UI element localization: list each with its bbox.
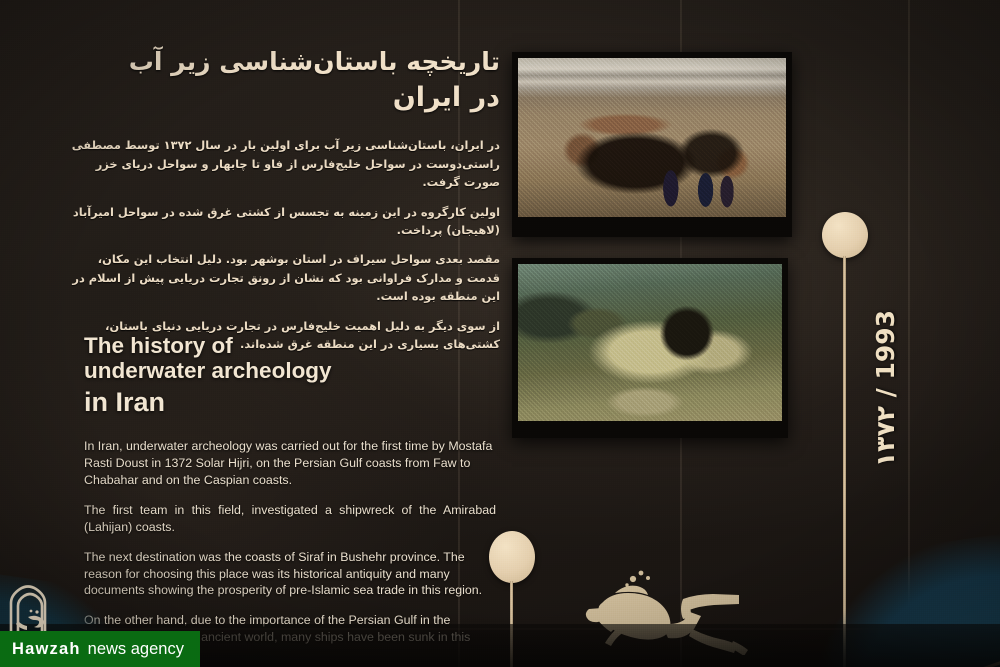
english-paragraph-1: In Iran, underwater archeology was carri…	[84, 438, 496, 489]
watermark-brand: Hawzah	[12, 640, 81, 659]
watermark-suffix: news agency	[88, 640, 184, 659]
english-title-line-1: The history of	[84, 333, 496, 358]
english-title: The history of underwater archeology in …	[84, 333, 496, 417]
english-paragraph-3: The next destination was the coasts of S…	[84, 549, 496, 600]
pin-marker-head	[489, 531, 535, 583]
beached-shipwreck-photo	[512, 52, 792, 237]
hawzah-arch-logo-icon	[6, 581, 58, 637]
persian-text-block: تاریخچه باستان‌شناسی زیر آب در ایران در …	[68, 46, 500, 354]
persian-paragraph-2: اولین کارگروه در این زمینه به تجسس از کش…	[68, 203, 500, 240]
hawzah-watermark-bar: Hawzah news agency	[0, 631, 200, 667]
persian-paragraph-3: مقصد بعدی سواحل سیراف در استان بوشهر بود…	[68, 250, 500, 305]
underwater-wreck-image	[518, 264, 782, 421]
pin-marker-head	[822, 212, 868, 258]
photo-grain-overlay	[518, 264, 782, 421]
exhibit-panel-photo: تاریخچه باستان‌شناسی زیر آب در ایران در …	[0, 0, 1000, 667]
beached-shipwreck-image	[518, 58, 786, 217]
underwater-wreck-photo	[512, 258, 788, 438]
date-marker-label: ۱۳۷۲ / 1993	[872, 309, 901, 466]
persian-paragraph-1: در ایران، باستان‌شناسی زیر آب برای اولین…	[68, 136, 500, 191]
photo-grain-overlay	[518, 58, 786, 217]
english-title-line-2: underwater archeology	[84, 358, 496, 383]
persian-title-line-1: تاریخچه باستان‌شناسی زیر آب	[68, 46, 500, 78]
persian-title-line-2: در ایران	[68, 80, 500, 115]
date-marker: ۱۳۷۲ / 1993	[846, 258, 926, 518]
english-paragraph-2: The first team in this field, investigat…	[84, 502, 496, 536]
english-title-line-3: in Iran	[84, 387, 496, 418]
